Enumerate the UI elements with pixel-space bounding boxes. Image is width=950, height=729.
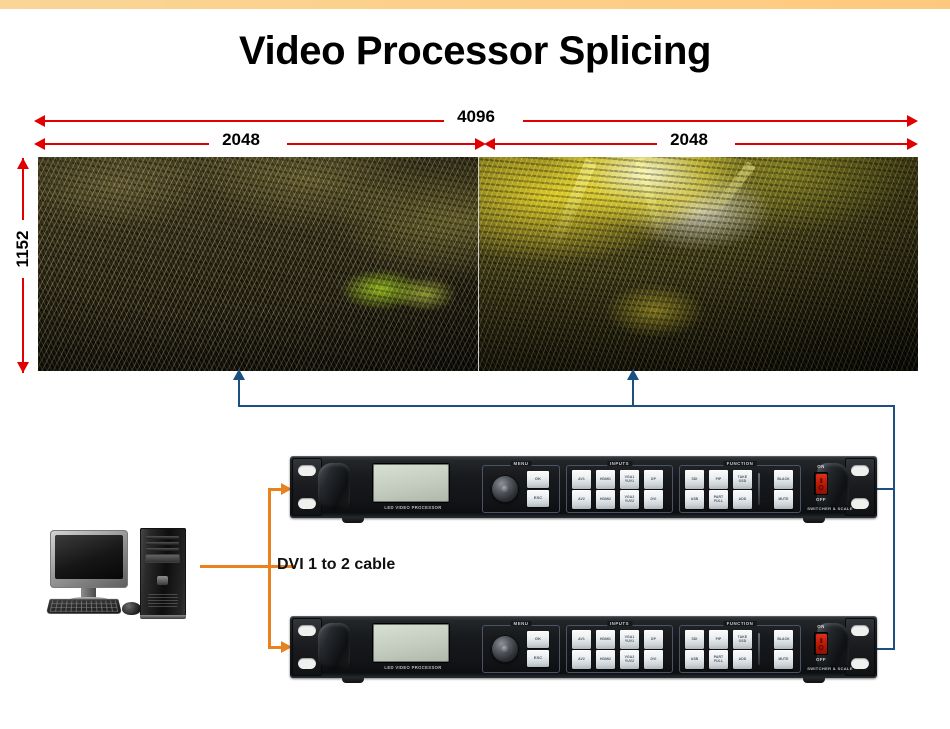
switcher-scale-label: SWITCHER & SCALE (795, 506, 865, 511)
dvi-cable-label: DVI 1 to 2 cable (277, 556, 395, 574)
inputs-section: INPUTS AV1 HDMI1 VGA1 YUV1 DP AV2 HDMI2 … (566, 625, 673, 673)
input-wire-vertical-split (268, 488, 271, 568)
input-button-dp[interactable]: DP (644, 630, 663, 649)
output-wire-left-vertical (238, 380, 240, 406)
input-button-hdmi2[interactable]: HDMI2 (596, 490, 615, 509)
tower-logo (157, 576, 168, 585)
lcd-display (373, 624, 449, 662)
function-button-part-full[interactable]: PART FULL (709, 650, 728, 669)
inputs-section-title: INPUTS (607, 461, 632, 466)
esc-button[interactable]: ESC (527, 490, 549, 507)
pc-tower (140, 528, 186, 616)
arrow-right-icon (907, 138, 918, 150)
power-on-label: ON (806, 624, 836, 629)
menu-rotary-knob[interactable] (491, 635, 519, 663)
function-section: FUNCTION SDI PIP TAKE OSD BLACK USB PART… (679, 625, 801, 673)
function-section-title: FUNCTION (724, 621, 757, 626)
desktop-computer (48, 528, 213, 620)
function-button-sdi[interactable]: SDI (685, 630, 704, 649)
function-button-pip[interactable]: PIP (709, 630, 728, 649)
function-button-take-osd[interactable]: TAKE OSD (733, 470, 752, 489)
input-button-hdmi1[interactable]: HDMI1 (596, 630, 615, 649)
function-divider (758, 473, 760, 505)
dimension-line-right (735, 143, 907, 145)
menu-section: MENU OK ESC (482, 625, 560, 673)
input-button-av1[interactable]: AV1 (572, 630, 591, 649)
function-button-black[interactable]: BLACK (774, 630, 793, 649)
power-switch-group[interactable]: ON OFF (806, 464, 848, 512)
dimension-line-left (44, 120, 444, 122)
power-rocker-switch[interactable] (814, 472, 828, 495)
input-button-vga1[interactable]: VGA1 YUV1 (620, 630, 639, 649)
output-wire-right-vertical (632, 380, 634, 406)
rack-slot-icon (851, 625, 869, 636)
input-button-dvi[interactable]: DVI (644, 650, 663, 669)
tower-foot (140, 615, 186, 619)
function-button-mute[interactable]: MUTE (774, 650, 793, 669)
keyboard-keys (50, 601, 119, 612)
output-wire-right-trunk (893, 405, 895, 650)
power-rocker-switch[interactable] (814, 632, 828, 655)
dimension-left-half: 2048 (34, 133, 486, 155)
chassis-foot (342, 517, 364, 523)
left-screen-vignette (38, 157, 478, 371)
input-button-hdmi1[interactable]: HDMI1 (596, 470, 615, 489)
rack-slot-icon (298, 465, 316, 476)
chassis-foot (803, 517, 825, 523)
input-button-vga1[interactable]: VGA1 YUV1 (620, 470, 639, 489)
chassis-foot (803, 677, 825, 683)
page-title: Video Processor Splicing (0, 31, 950, 71)
monitor-bezel (50, 530, 128, 588)
right-screen-vignette (479, 157, 919, 371)
function-button-add[interactable]: ADD (733, 650, 752, 669)
dimension-right-half: 2048 (484, 133, 918, 155)
menu-section: MENU OK ESC (482, 465, 560, 513)
lcd-display (373, 464, 449, 502)
power-off-label: OFF (806, 657, 836, 662)
output-arrow-left-icon (233, 369, 245, 380)
output-arrow-right-icon (627, 369, 639, 380)
top-decorative-banner (0, 0, 950, 9)
tower-bay (146, 542, 179, 545)
function-button-part-full[interactable]: PART FULL (709, 490, 728, 509)
menu-rotary-knob[interactable] (491, 475, 519, 503)
power-switch-group[interactable]: ON OFF (806, 624, 848, 672)
input-button-vga2[interactable]: VGA2 YUV2 (620, 650, 639, 669)
dimension-line-right (523, 120, 907, 122)
chassis-handle-left[interactable] (318, 623, 350, 670)
inputs-section-title: INPUTS (607, 621, 632, 626)
rack-slot-icon (298, 658, 316, 669)
dimension-line-left (44, 143, 209, 145)
left-screen-half (38, 157, 479, 371)
function-button-add[interactable]: ADD (733, 490, 752, 509)
function-button-take-osd[interactable]: TAKE OSD (733, 630, 752, 649)
input-button-dvi[interactable]: DVI (644, 490, 663, 509)
menu-section-title: MENU (511, 621, 532, 626)
function-button-usb[interactable]: USB (685, 650, 704, 669)
input-button-av1[interactable]: AV1 (572, 470, 591, 489)
dimension-total-label: 4096 (434, 107, 518, 127)
input-button-hdmi2[interactable]: HDMI2 (596, 650, 615, 669)
power-off-label: OFF (806, 497, 836, 502)
input-button-av2[interactable]: AV2 (572, 490, 591, 509)
tower-bay (146, 536, 179, 539)
dimension-height-label: 1152 (10, 220, 36, 278)
brand-label: LED VIDEO PROCESSOR (373, 505, 453, 510)
tower-bay (146, 548, 179, 551)
chassis-handle-left[interactable] (318, 463, 350, 510)
ok-button[interactable]: OK (527, 631, 549, 648)
power-rocker-inner (816, 474, 827, 494)
input-button-dp[interactable]: DP (644, 470, 663, 489)
function-button-sdi[interactable]: SDI (685, 470, 704, 489)
function-section-title: FUNCTION (724, 461, 757, 466)
function-button-pip[interactable]: PIP (709, 470, 728, 489)
input-button-vga2[interactable]: VGA2 YUV2 (620, 490, 639, 509)
ok-button[interactable]: OK (527, 471, 549, 488)
dimension-line-right (287, 143, 475, 145)
optical-drive (145, 554, 180, 563)
inputs-section: INPUTS AV1 HDMI1 VGA1 YUV1 DP AV2 HDMI2 … (566, 465, 673, 513)
rack-slot-icon (298, 498, 316, 509)
chassis-foot (342, 677, 364, 683)
rack-slot-icon (298, 625, 316, 636)
switcher-scale-label: SWITCHER & SCALE (795, 666, 865, 671)
dimension-line-left (494, 143, 657, 145)
arrow-down-icon (17, 362, 29, 373)
power-rocker-inner (816, 634, 827, 654)
menu-section-title: MENU (511, 461, 532, 466)
input-button-av2[interactable]: AV2 (572, 650, 591, 669)
function-section: FUNCTION SDI PIP TAKE OSD BLACK USB PART… (679, 465, 801, 513)
input-wire-vertical-split-lower (268, 565, 271, 648)
output-wire-horizontal-top (238, 405, 895, 407)
arrow-up-icon (17, 158, 29, 169)
tower-vent (148, 594, 178, 607)
function-divider (758, 633, 760, 665)
dimension-right-label: 2048 (647, 130, 731, 150)
monitor-screen (55, 535, 123, 579)
function-button-black[interactable]: BLACK (774, 470, 793, 489)
brand-label: LED VIDEO PROCESSOR (373, 665, 453, 670)
right-screen-half (479, 157, 919, 371)
arrow-right-icon (907, 115, 918, 127)
rack-slot-icon (851, 465, 869, 476)
keyboard (46, 599, 122, 614)
dimension-total-width: 4096 (34, 110, 918, 132)
esc-button[interactable]: ESC (527, 650, 549, 667)
video-processor-bottom[interactable]: LED VIDEO PROCESSOR MENU OK ESC INPUTS A… (290, 616, 877, 683)
video-processor-top[interactable]: LED VIDEO PROCESSOR MENU OK ESC INPUTS A… (290, 456, 877, 523)
mouse (122, 602, 141, 615)
function-button-usb[interactable]: USB (685, 490, 704, 509)
led-screen-wall (38, 157, 918, 371)
power-on-label: ON (806, 464, 836, 469)
dimension-height: 1152 (10, 158, 36, 373)
dimension-left-label: 2048 (199, 130, 283, 150)
function-button-mute[interactable]: MUTE (774, 490, 793, 509)
